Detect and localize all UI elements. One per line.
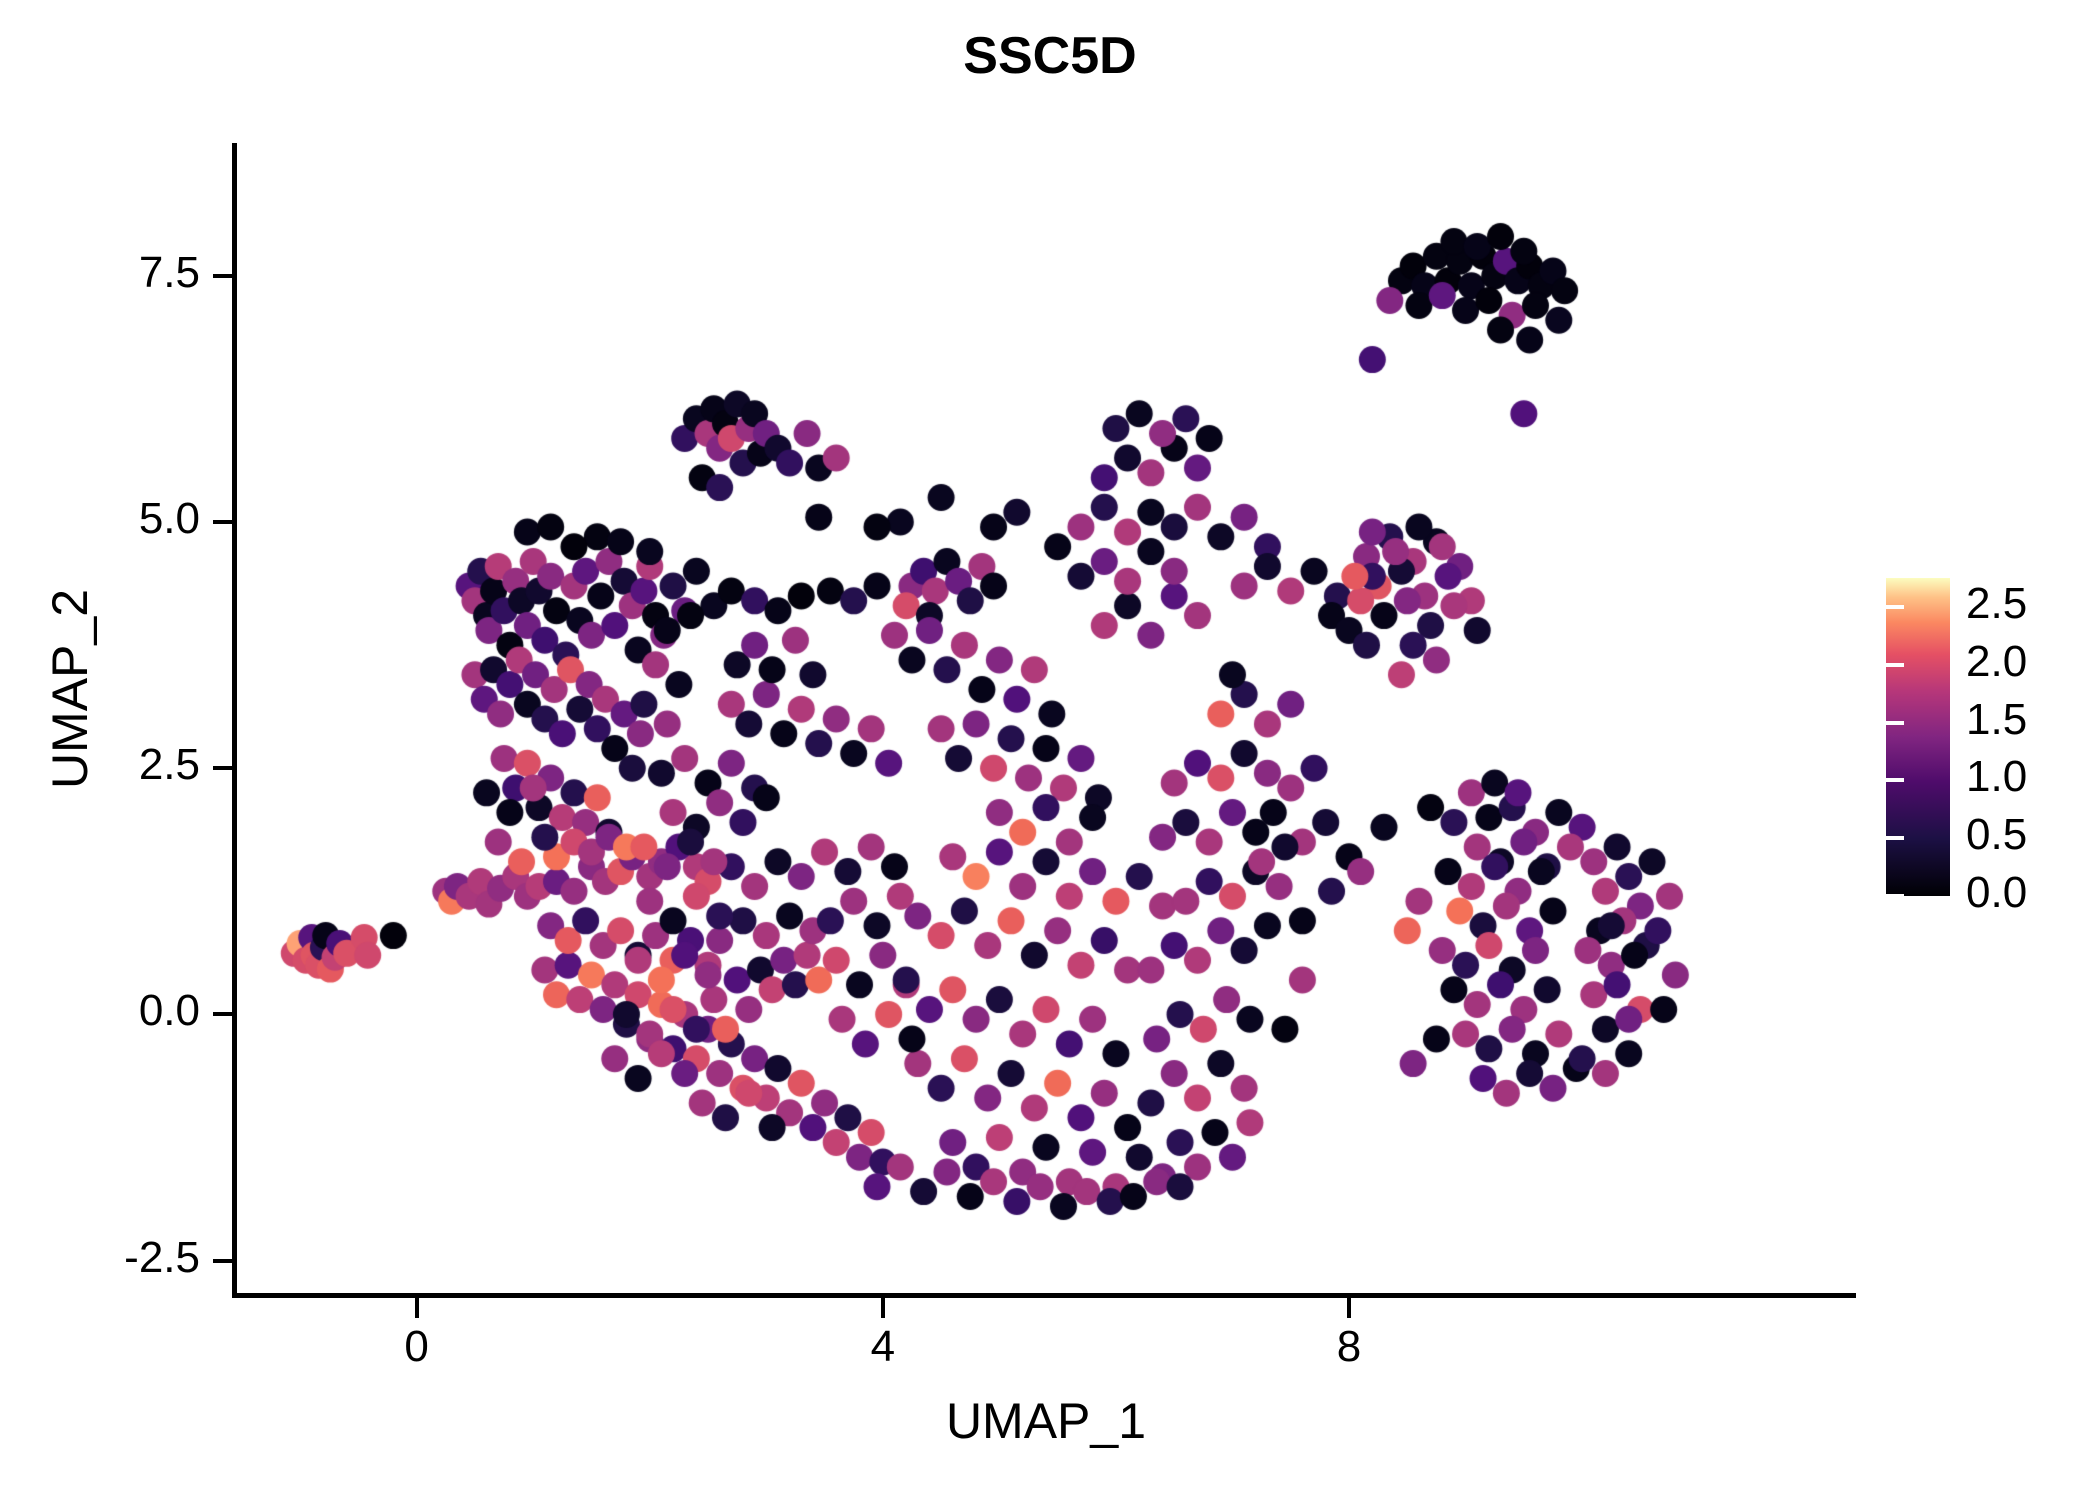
colorbar-tick-mark <box>1868 663 1886 667</box>
x-axis-title: UMAP_1 <box>236 1392 1856 1450</box>
plot-panel <box>236 143 1856 1295</box>
y-axis-line <box>232 143 237 1298</box>
colorbar-tick-label: 2.0 <box>1966 637 2027 687</box>
scatter-points-layer <box>236 143 1856 1295</box>
x-tick-mark <box>1347 1298 1351 1318</box>
colorbar-tick-mark <box>1868 894 1886 898</box>
colorbar-tick-mark <box>1886 894 1904 898</box>
colorbar-tick-label: 1.0 <box>1966 752 2027 802</box>
colorbar-tick-label: 0.5 <box>1966 810 2027 860</box>
colorbar-tick-mark <box>1886 663 1904 667</box>
page-title: SSC5D <box>0 26 2100 86</box>
colorbar-gradient <box>1886 578 1950 896</box>
colorbar-tick-mark <box>1886 778 1904 782</box>
y-tick-mark <box>213 766 233 770</box>
x-tick-label: 8 <box>1249 1322 1449 1372</box>
colorbar-tick-mark <box>1868 836 1886 840</box>
y-tick-label: 7.5 <box>0 248 200 298</box>
y-tick-label: 2.5 <box>0 740 200 790</box>
colorbar-tick-mark <box>1868 778 1886 782</box>
colorbar-tick-label: 2.5 <box>1966 579 2027 629</box>
colorbar-tick-label: 0.0 <box>1966 868 2027 918</box>
y-tick-label: 5.0 <box>0 494 200 544</box>
x-tick-label: 0 <box>317 1322 517 1372</box>
colorbar-tick-mark <box>1886 605 1904 609</box>
colorbar-tick-mark <box>1886 836 1904 840</box>
y-tick-label: 0.0 <box>0 986 200 1036</box>
colorbar-tick-mark <box>1868 605 1886 609</box>
y-tick-mark <box>213 1012 233 1016</box>
x-tick-mark <box>881 1298 885 1318</box>
chart-root: SSC5D -2.50.02.55.07.5 048 UMAP_1 UMAP_2… <box>0 0 2100 1500</box>
x-tick-mark <box>415 1298 419 1318</box>
colorbar-tick-mark <box>1868 721 1886 725</box>
x-tick-label: 4 <box>783 1322 983 1372</box>
x-axis-line <box>232 1293 1856 1298</box>
y-tick-mark <box>213 520 233 524</box>
colorbar-tick-mark <box>1886 721 1904 725</box>
y-tick-mark <box>213 274 233 278</box>
y-axis-title: UMAP_2 <box>41 339 99 1039</box>
colorbar-tick-label: 1.5 <box>1966 695 2027 745</box>
y-tick-label: -2.5 <box>0 1233 200 1283</box>
y-tick-mark <box>213 1259 233 1263</box>
